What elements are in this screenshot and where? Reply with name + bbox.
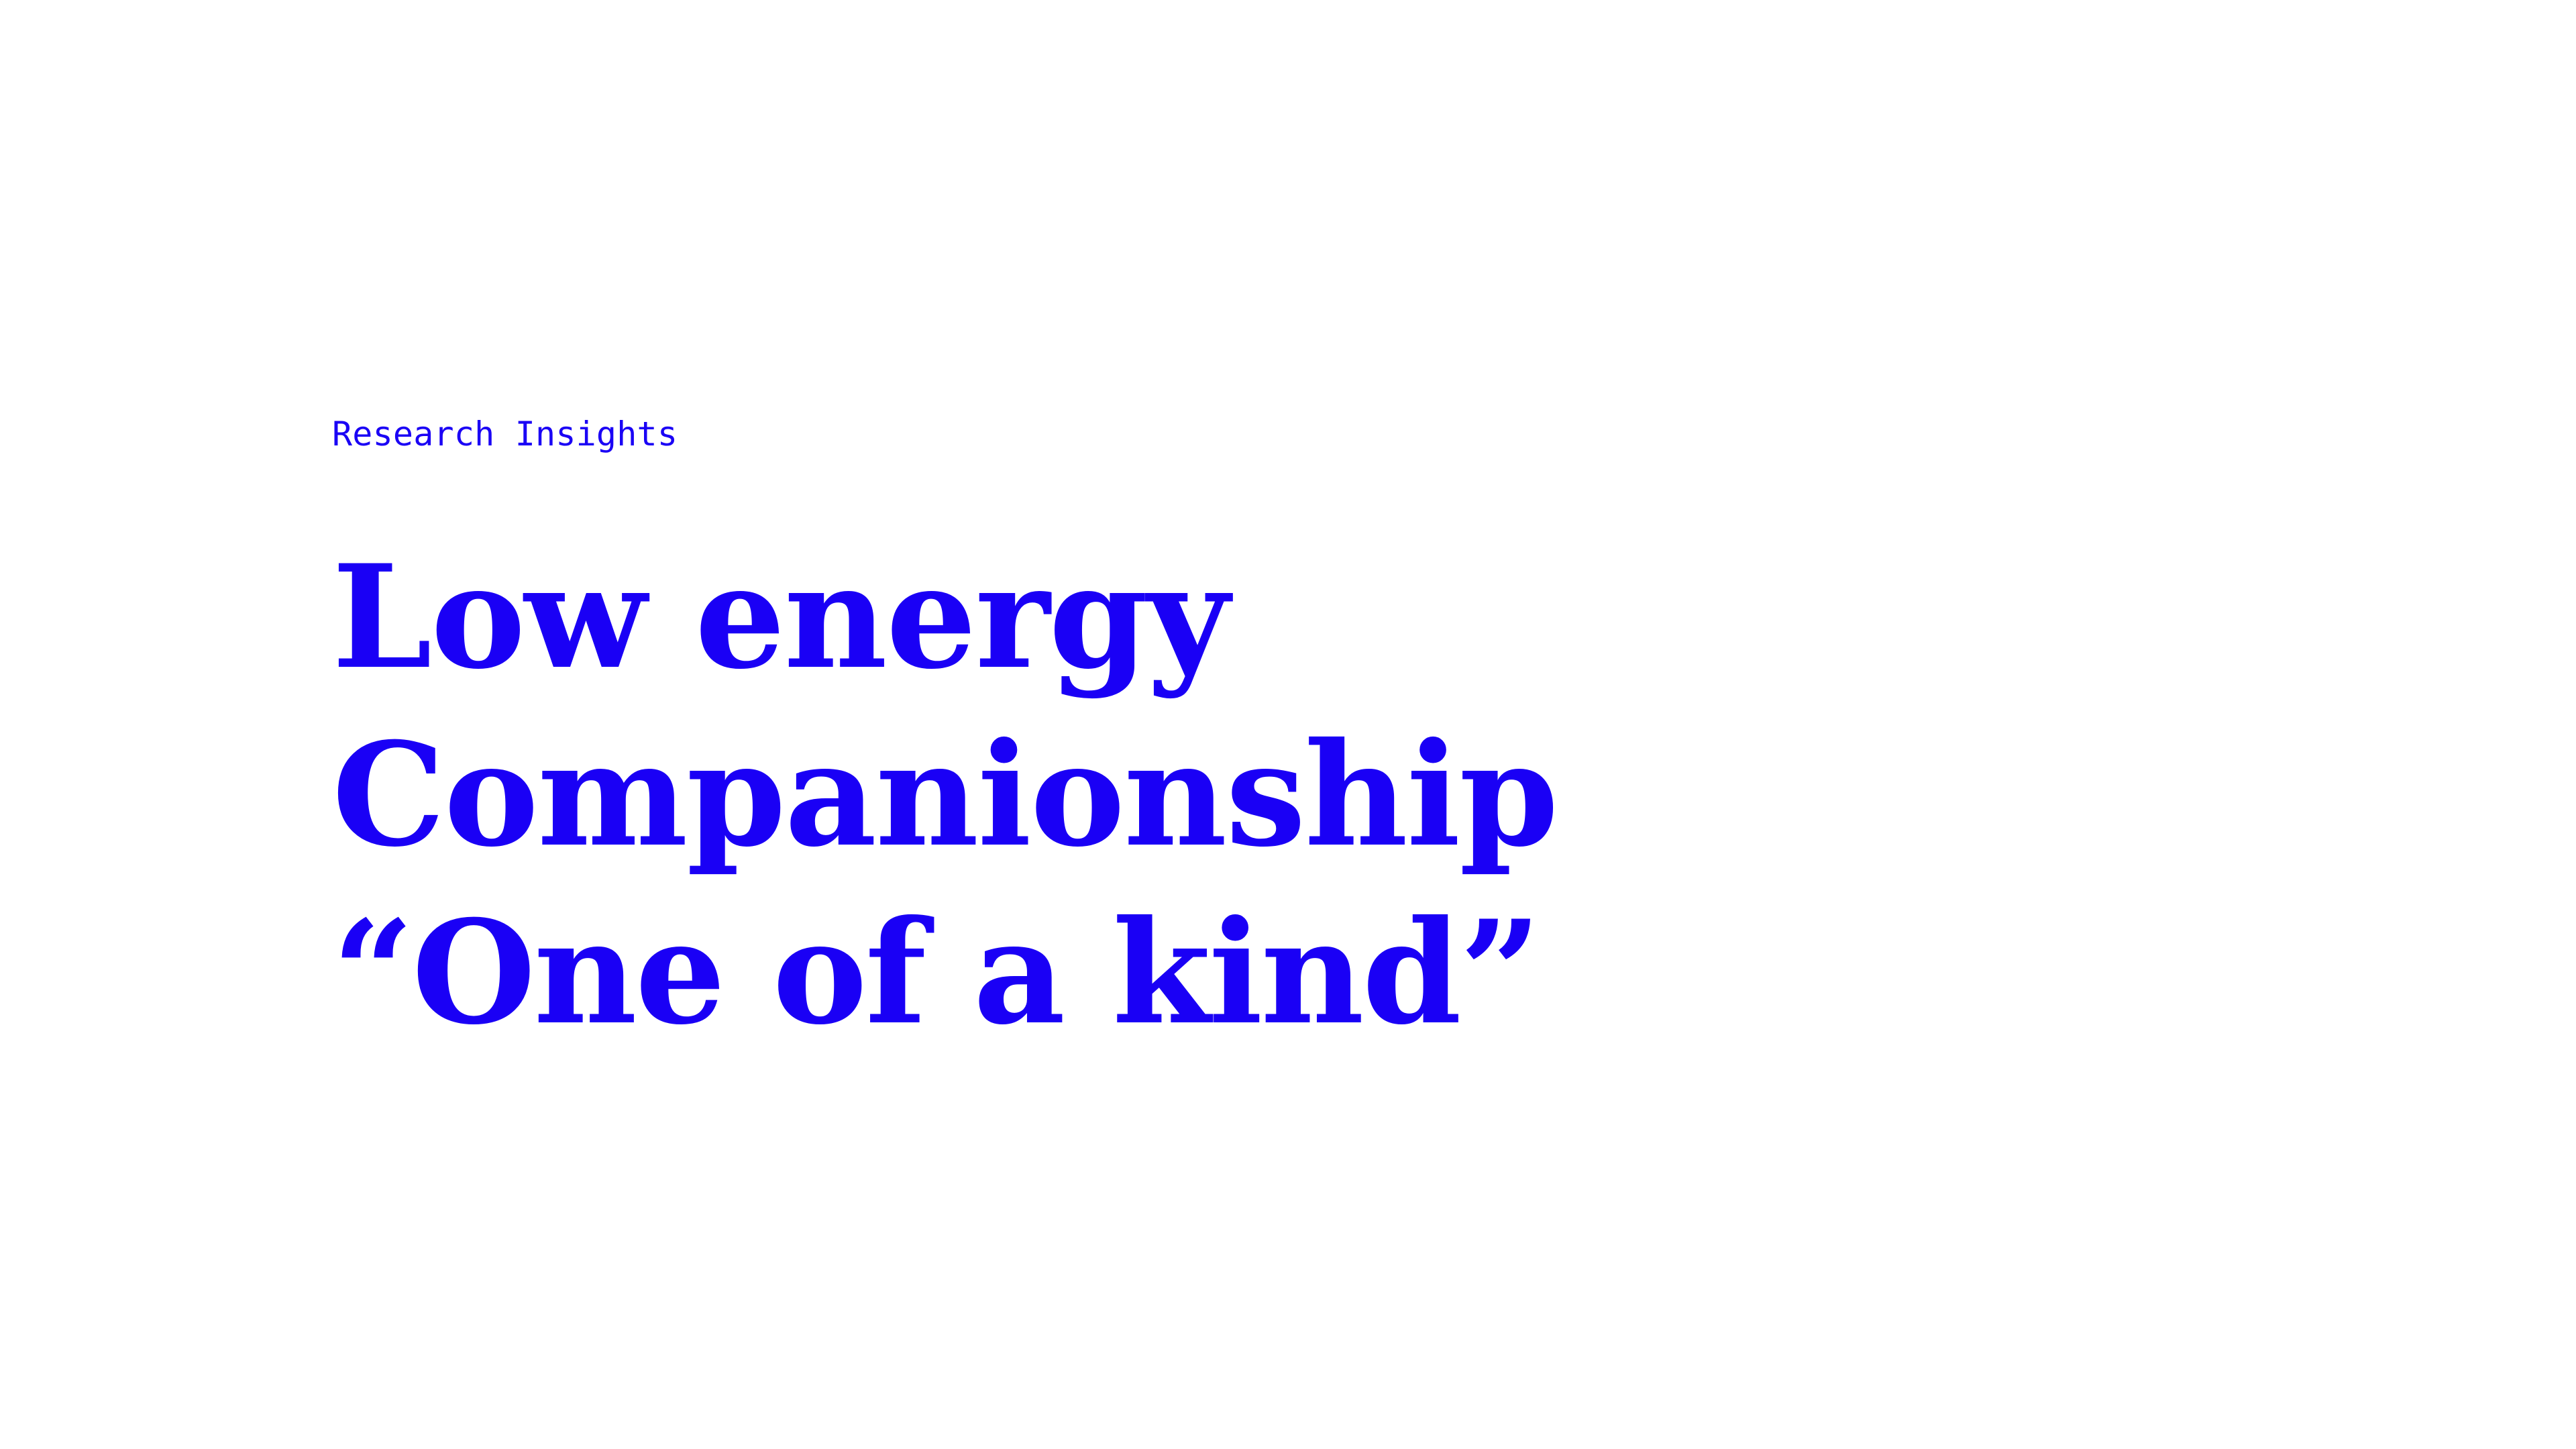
headline-line-3: “One of a kind” bbox=[332, 883, 2076, 1061]
page-title: Low energy Companionship “One of a kind” bbox=[332, 528, 2076, 1061]
headline-line-2: Companionship bbox=[332, 706, 2076, 883]
eyebrow-label: Research Insights bbox=[332, 416, 2076, 453]
slide-canvas: Research Insights Low energy Companionsh… bbox=[0, 0, 2576, 1449]
content-block: Research Insights Low energy Companionsh… bbox=[332, 416, 2076, 1061]
headline-line-1: Low energy bbox=[332, 528, 2076, 706]
